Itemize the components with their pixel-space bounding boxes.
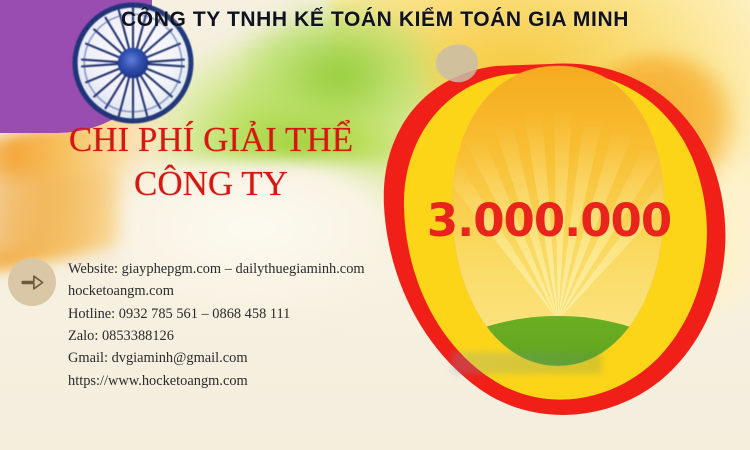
page-title: CHI PHÍ GIẢI THỂ CÔNG TY: [46, 118, 376, 206]
contact-gmail: Gmail: dvgiaminh@gmail.com: [68, 347, 408, 369]
contact-website2: hocketoangm.com: [68, 280, 408, 302]
arrow-right-icon: [19, 269, 46, 296]
contact-info-block: Website: giayphepgm.com – dailythuegiami…: [68, 258, 408, 392]
contact-website: Website: giayphepgm.com – dailythuegiami…: [68, 258, 408, 280]
watermark-blur: [452, 352, 602, 374]
contact-url: https://www.hocketoangm.com: [68, 370, 408, 392]
contact-zalo: Zalo: 0853388126: [68, 325, 408, 347]
poster-canvas: CÔNG TY TNHH KẾ TOÁN KIỂM TOÁN GIA MINH …: [0, 0, 750, 450]
contact-hotline: Hotline: 0932 785 561 – 0868 458 111: [68, 303, 408, 325]
page-title-line-2: CÔNG TY: [46, 162, 376, 206]
page-title-line-1: CHI PHÍ GIẢI THỂ: [69, 120, 353, 159]
arrow-badge[interactable]: [8, 258, 56, 306]
